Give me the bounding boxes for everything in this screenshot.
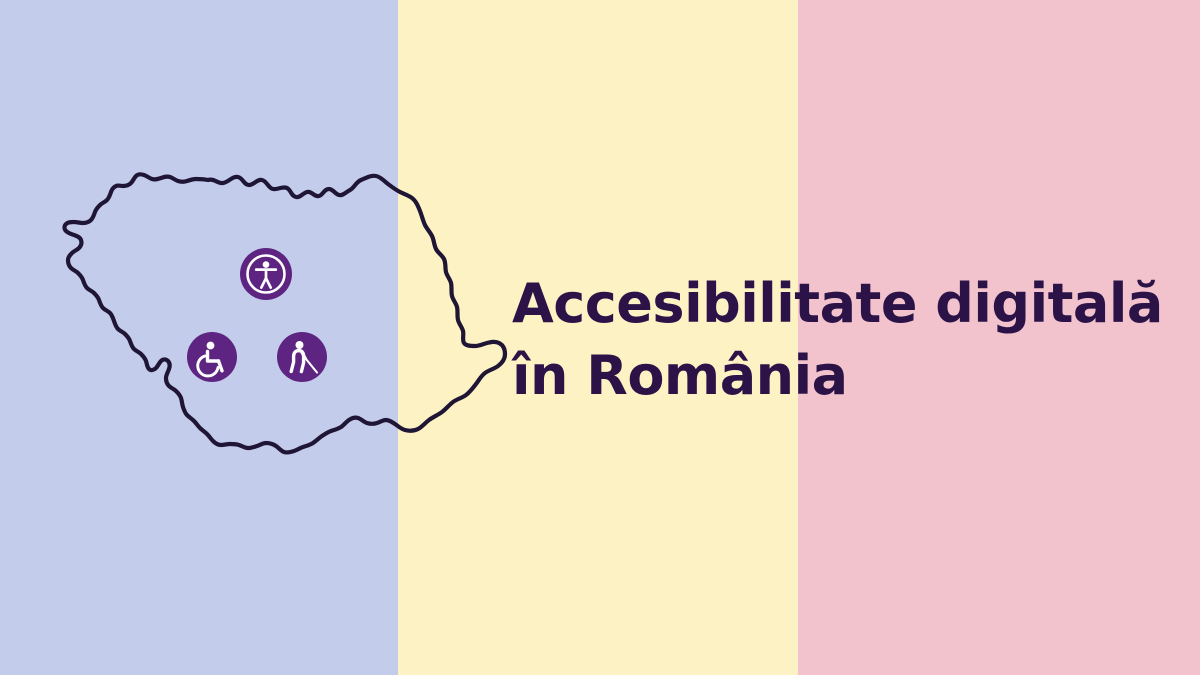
icon-blind-access[interactable] [277,332,327,382]
wheelchair-icon [187,332,237,382]
icon-universal-access[interactable] [240,248,292,300]
title-line-1: Accesibilitate digitală [512,268,1152,340]
page-title: Accesibilitate digitală în România [512,268,1152,412]
icon-wheelchair-access[interactable] [187,332,237,382]
blind-person-cane-icon [277,332,327,382]
romania-outline-path [65,174,506,452]
universal-access-icon [240,248,292,300]
slide-canvas: Accesibilitate digitală în România [0,0,1200,675]
title-line-2: în România [512,340,1152,412]
romania-map [48,158,508,488]
